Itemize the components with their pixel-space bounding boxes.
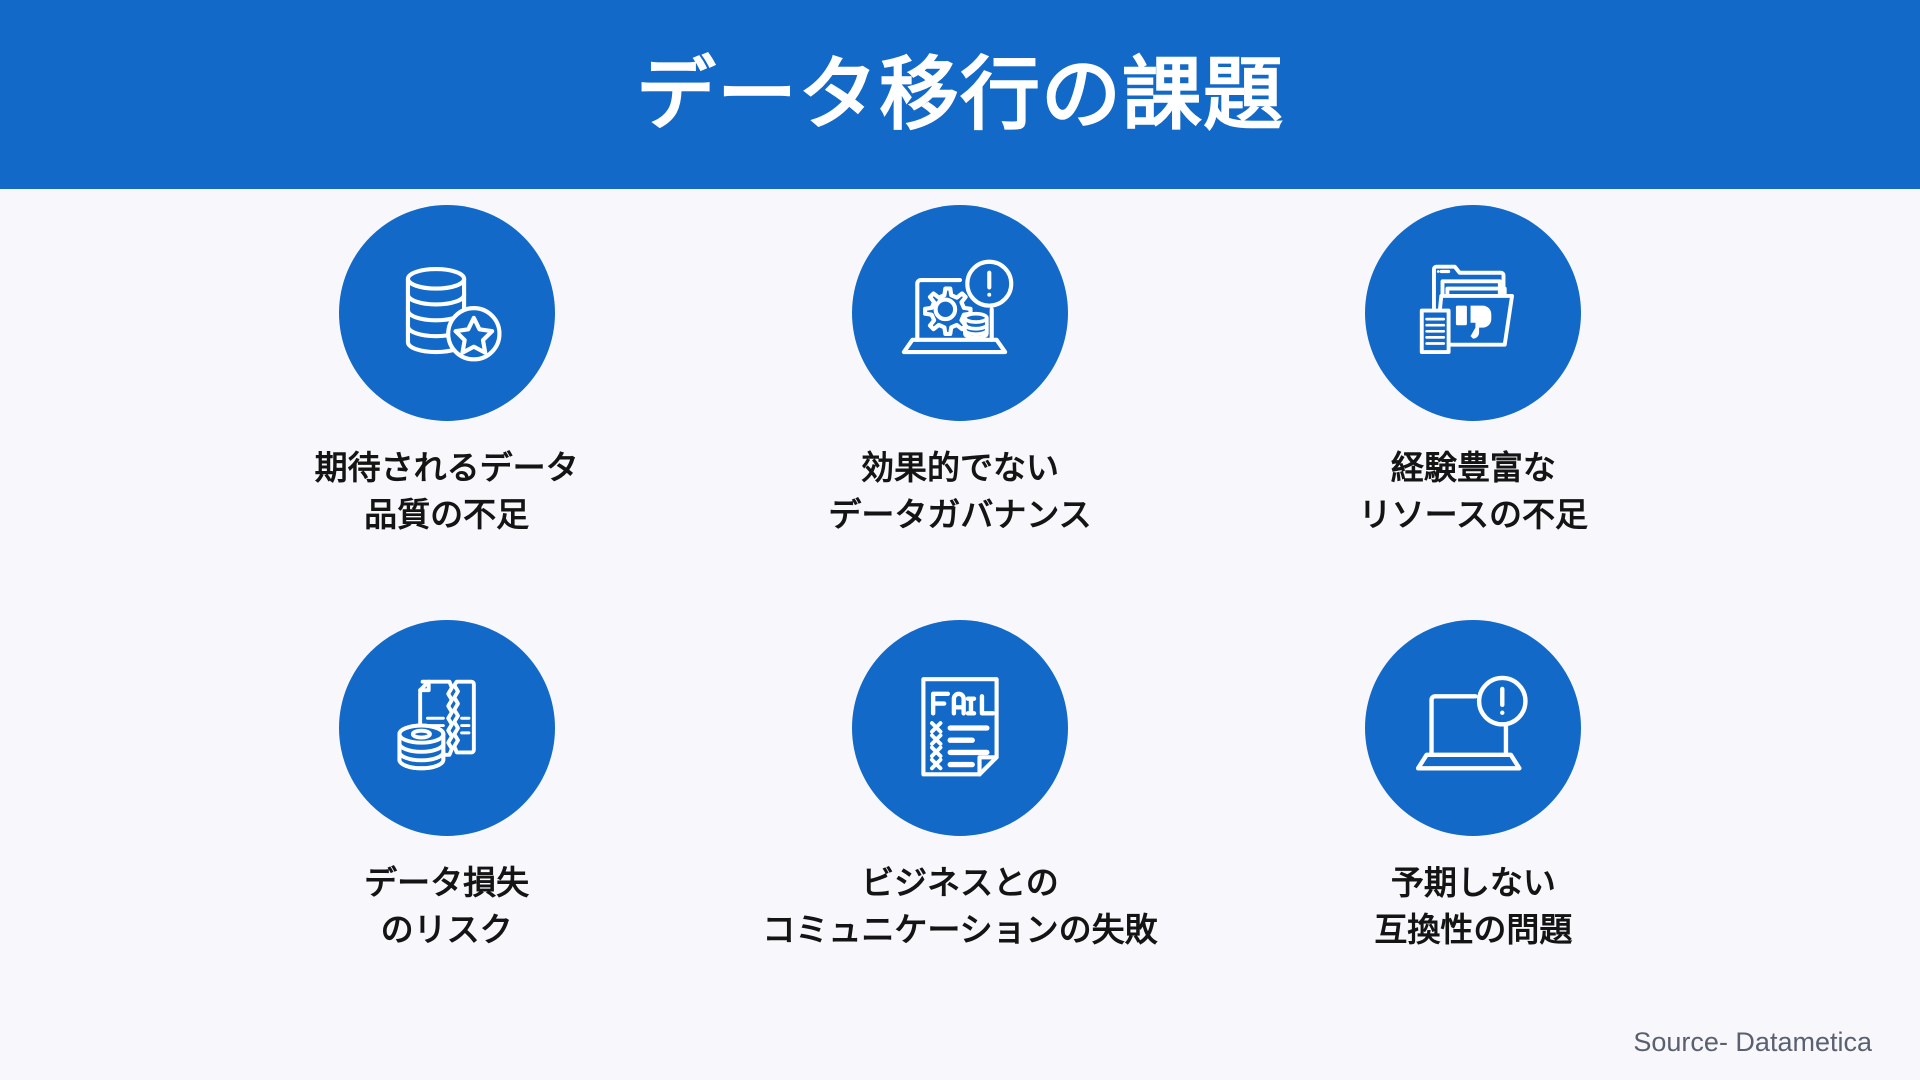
challenge-item: 経験豊富な リソースの不足 [1217,189,1730,604]
source-attribution: Source- Datametica [1633,1027,1872,1058]
challenge-label: 経験豊富な リソースの不足 [1359,445,1588,539]
challenge-label: 効果的でない データガバナンス [828,445,1091,539]
challenge-label: ビジネスとの コミュニケーションの失敗 [762,860,1157,954]
challenge-item: 予期しない 互換性の問題 [1217,604,1730,1019]
torn-document-database-icon [386,667,508,789]
page-title: データ移行の課題 [636,55,1284,135]
challenge-item: データ損失 のリスク [190,604,703,1019]
challenge-label: 予期しない 互換性の問題 [1374,860,1572,954]
folder-thumbs-down-icon [1412,252,1534,374]
icon-circle [339,620,555,836]
challenge-item: 効果的でない データガバナンス [703,189,1216,604]
challenge-item: ビジネスとの コミュニケーションの失敗 [703,604,1216,1019]
challenge-label: 期待されるデータ 品質の不足 [315,445,579,539]
laptop-alert-icon [1412,667,1534,789]
icon-circle [339,205,555,421]
icon-circle [1365,205,1581,421]
icon-circle [852,205,1068,421]
icon-circle [852,620,1068,836]
laptop-gear-alert-icon [899,252,1021,374]
fail-checklist-document-icon [899,667,1021,789]
challenge-item: 期待されるデータ 品質の不足 [190,189,703,604]
icon-circle [1365,620,1581,836]
header-band: データ移行の課題 [0,0,1920,189]
challenges-grid: 期待されるデータ 品質の不足 [0,189,1920,1019]
database-star-icon [386,252,508,374]
challenge-label: データ損失 のリスク [364,860,529,954]
